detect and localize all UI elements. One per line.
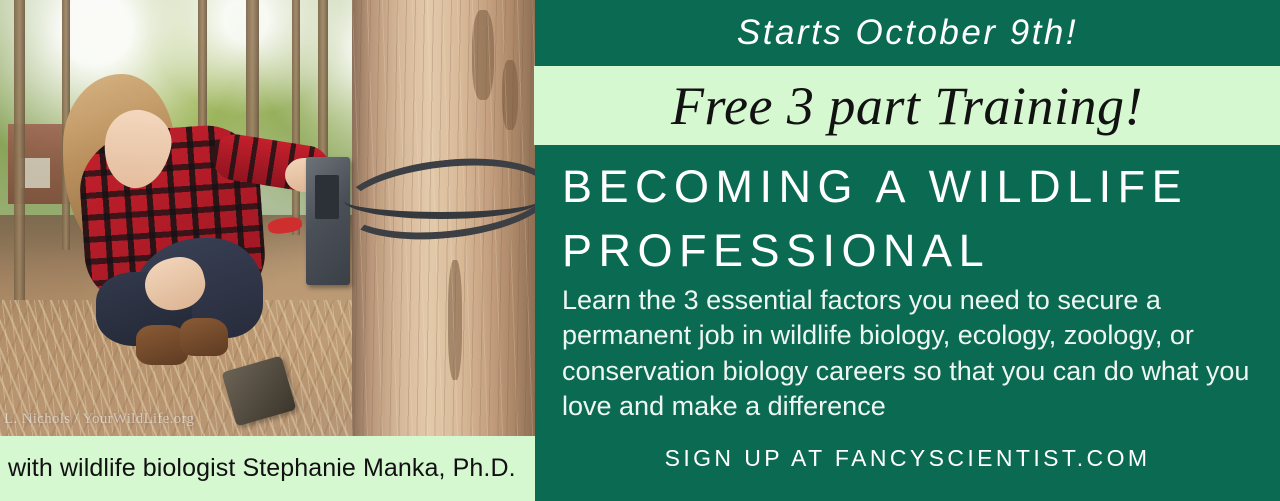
presenter-caption: with wildlife biologist Stephanie Manka,… <box>0 454 516 483</box>
offer-band: Free 3 part Training! <box>534 66 1280 145</box>
photo-column: L. Nichols / YourWildLife.org with wildl… <box>0 0 535 501</box>
bark-strip <box>472 10 494 100</box>
background-tree-trunk <box>292 0 300 235</box>
offer-text: Free 3 part Training! <box>671 79 1143 133</box>
caption-band: with wildlife biologist Stephanie Manka,… <box>0 436 535 501</box>
headline-line-1: BECOMING A WILDLIFE <box>562 155 1262 219</box>
text-column: Starts October 9th! Free 3 part Training… <box>535 0 1280 501</box>
bark-strip <box>502 60 518 130</box>
description-paragraph: Learn the 3 essential factors you need t… <box>562 283 1274 424</box>
hero-photo: L. Nichols / YourWildLife.org <box>0 0 535 436</box>
camera-trap-on-tree <box>306 157 350 285</box>
photo-credit-watermark: L. Nichols / YourWildLife.org <box>4 411 194 428</box>
background-tree-trunk <box>14 0 25 300</box>
signup-cta[interactable]: SIGN UP AT FANCYSCIENTIST.COM <box>535 445 1280 472</box>
start-date-text: Starts October 9th! <box>737 13 1078 53</box>
signup-cta-label[interactable]: SIGN UP AT FANCYSCIENTIST.COM <box>665 445 1151 472</box>
start-date-bar: Starts October 9th! <box>535 0 1280 66</box>
promotional-banner: L. Nichols / YourWildLife.org with wildl… <box>0 0 1280 501</box>
security-cable-lower <box>344 182 535 219</box>
bark-strip <box>448 260 462 380</box>
page-title: BECOMING A WILDLIFE PROFESSIONAL <box>562 155 1262 283</box>
person-boot <box>180 318 228 356</box>
headline-line-2: PROFESSIONAL <box>562 219 1262 283</box>
